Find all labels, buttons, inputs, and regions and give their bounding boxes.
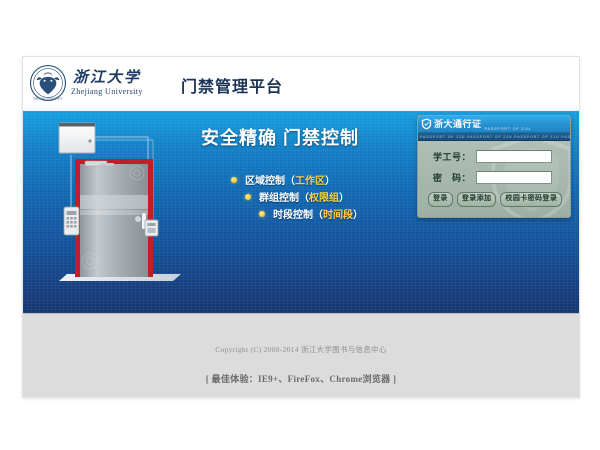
university-wordmark: 浙江大学 Zhejiang University [71,70,143,97]
login-panel-title-cn: 浙大通行证 [434,120,482,129]
login-form: 学工号： 密 码： 登录 登录添加 校园卡密码登录 [418,141,570,207]
campus-card-login-button[interactable]: 校园卡密码登录 [500,192,562,207]
app-page: ZHEJIANG UNIVERSITY 浙江大学 Zhejiang Univer… [22,56,580,398]
feature-tail: ） [353,206,363,221]
password-input[interactable] [476,171,552,184]
field-row-password: 密 码： [418,171,570,184]
page-header: ZHEJIANG UNIVERSITY 浙江大学 Zhejiang Univer… [23,57,579,111]
userid-input[interactable] [476,150,552,163]
feature-item-area-control: 区域控制（ 工作区 ） [231,172,335,187]
copyright-text: Copyright (C) 2008-2014 浙江大学图书与信息中心 [215,344,387,355]
feature-label: 群组控制（ [259,189,309,204]
hero-banner: 安全精确 门禁控制 区域控制（ 工作区 ） 群组控制（ 权限组 ） 时段控制（ … [23,111,579,313]
login-panel-titlebar: 浙大通行证 PASSPORT OF ZJU [418,116,570,133]
feature-tail: ） [325,172,335,187]
feature-tail: ） [339,189,349,204]
browser-support-note: [ 最佳体验：IE9+、FireFox、Chrome浏览器 ] [206,372,397,385]
svg-text:ZHEJIANG UNIVERSITY: ZHEJIANG UNIVERSITY [33,97,63,100]
login-add-button[interactable]: 登录添加 [457,192,497,207]
login-button-group: 登录 登录添加 校园卡密码登录 [418,192,570,207]
university-name-en: Zhejiang University [71,87,143,97]
page-title: 门禁管理平台 [181,73,283,97]
password-label: 密 码： [429,171,471,184]
login-panel: 浙大通行证 PASSPORT OF ZJU PASSPORT OF ZJU PA… [417,115,571,218]
university-logo[interactable]: ZHEJIANG UNIVERSITY 浙江大学 Zhejiang Univer… [29,64,143,102]
bullet-dot-icon [245,194,251,200]
zju-crest-icon: ZHEJIANG UNIVERSITY [29,64,67,102]
university-name-cn: 浙江大学 [73,70,141,87]
feature-highlight: 时间段 [323,206,353,221]
feature-highlight: 权限组 [309,189,339,204]
bullet-dot-icon [231,177,237,183]
bullet-dot-icon [259,211,265,217]
field-row-userid: 学工号： [418,150,570,163]
feature-item-group-control: 群组控制（ 权限组 ） [245,189,349,204]
login-panel-title-en: PASSPORT OF ZJU [485,127,531,132]
feature-label: 时段控制（ [273,206,323,221]
feature-item-time-control: 时段控制（ 时间段 ） [259,206,363,221]
passport-marquee-strip: PASSPORT OF ZJU PASSPORT OF ZJU PASSPORT… [418,133,570,141]
feature-highlight: 工作区 [295,172,325,187]
login-button[interactable]: 登录 [428,192,453,207]
banner-slogan: 安全精确 门禁控制 [201,124,359,150]
page-footer: Copyright (C) 2008-2014 浙江大学图书与信息中心 [ 最佳… [23,313,579,398]
access-control-door-illustration [45,115,215,305]
userid-label: 学工号： [429,150,471,163]
shield-icon [421,118,432,130]
feature-label: 区域控制（ [245,172,295,187]
